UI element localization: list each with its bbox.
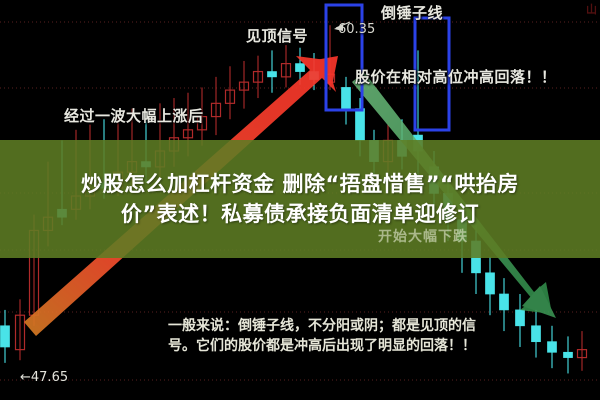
headline-line-2: 价”表述！私募债承接负面清单迎修订 [121, 199, 479, 229]
annotation-high-fallback: 股价在相对高位冲高回落！！ [355, 66, 557, 87]
bottom-explanation-line-1: 一般来说：倒锤子线，不分阳或阴；都是见顶的信 [168, 317, 588, 337]
leader-arrow-high [334, 22, 350, 31]
annotation-inverted-hammer-title: 倒锤子线 [381, 2, 443, 23]
stock-chart-screenshot: 60.35 ←47.65 见顶信号 经过一波大幅上涨后 倒锤子线 股价在相对高位… [0, 0, 600, 400]
watermark-logo: 山 [586, 1, 598, 17]
annotation-after-rally: 经过一波大幅上涨后 [64, 105, 204, 126]
headline-line-1: 炒股怎么加杠杆资金 删除“捂盘惜售”“哄抬房 [81, 169, 519, 199]
annotation-peak-signal: 见顶信号 [246, 25, 308, 46]
bottom-explanation-line-2: 号。它们的股价都是冲高后出现了明显的回落！！ [168, 337, 588, 357]
headline-banner: 炒股怎么加杠杆资金 删除“捂盘惜售”“哄抬房 价”表述！私募债承接负面清单迎修订 [0, 140, 600, 258]
annotation-big-drop: 开始大幅下跌 [378, 226, 468, 246]
bottom-explanation: 一般来说：倒锤子线，不分阳或阴；都是见顶的信 号。它们的股价都是冲高后出现了明显… [168, 317, 588, 357]
